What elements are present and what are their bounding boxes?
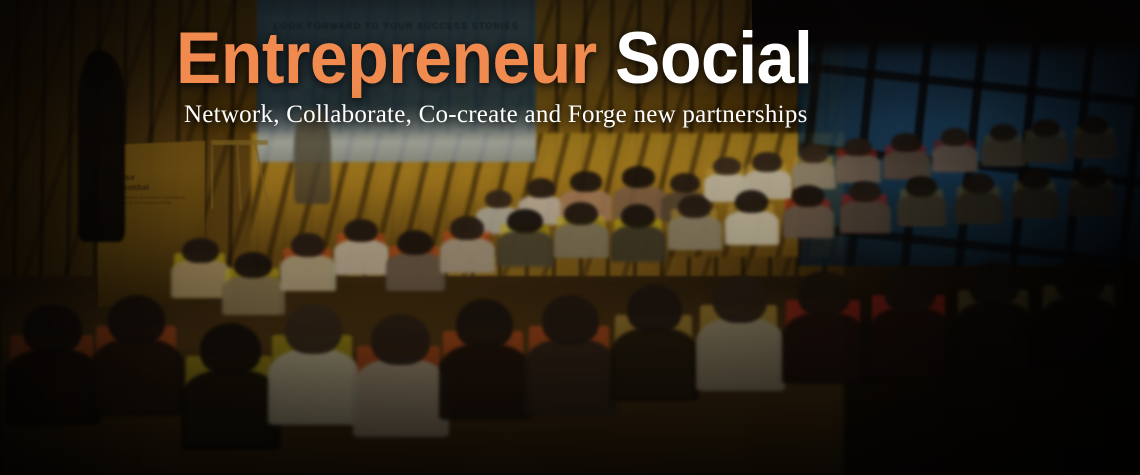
- headline-plain-word: Social: [615, 18, 812, 99]
- banner-headline: Entrepreneur Social: [176, 22, 812, 95]
- headline-accent-word: Entrepreneur: [176, 18, 597, 99]
- banner-subheadline: Network, Collaborate, Co-create and Forg…: [184, 101, 808, 130]
- banner-text-overlay: Entrepreneur Social Network, Collaborate…: [0, 0, 1140, 475]
- event-banner: LOOK FORWARD TO YOUR SUCCESS STORIES rii…: [0, 0, 1140, 475]
